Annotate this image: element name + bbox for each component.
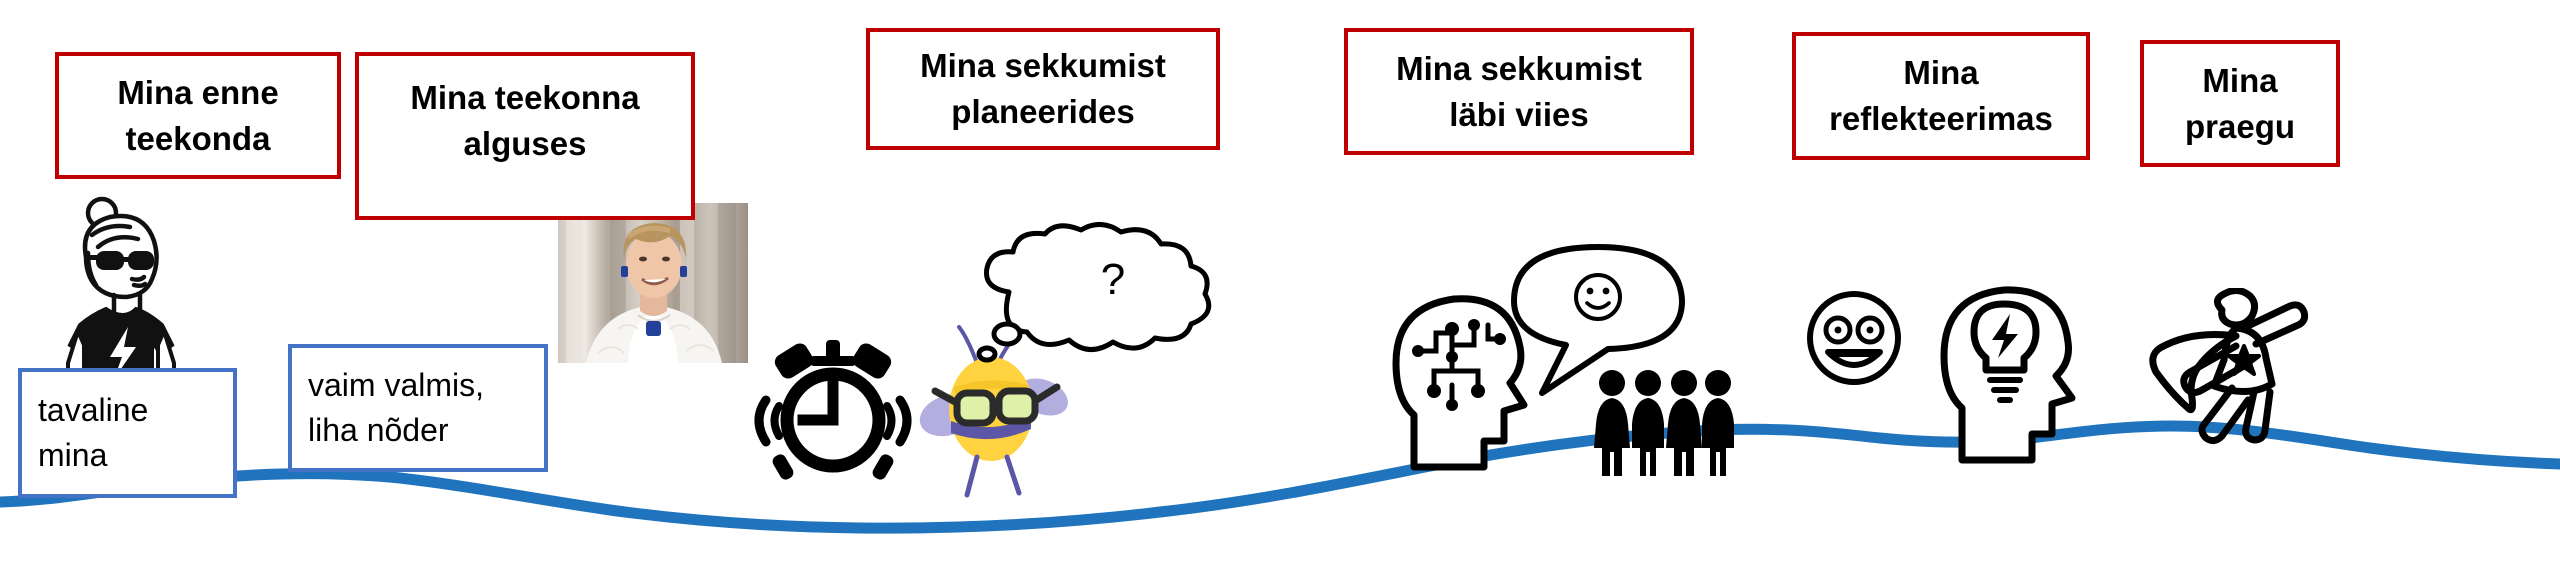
stage-box-reflekteerimas[interactable]: Mina reflekteerimas [1792,32,2090,160]
thought-bubble-text: ? [1101,255,1125,304]
slide-canvas: Mina enne teekonda Mina teekonna alguses… [0,0,2560,562]
people-group-icon [1592,368,1737,478]
stage-box-enne-teekonda[interactable]: Mina enne teekonda [55,52,341,179]
stage-box-label: Mina enne teekonda [107,70,288,161]
thought-bubble-icon: ? [965,222,1230,372]
stage-box-label: Mina sekkumist planeerides [910,43,1176,134]
note-box-tavaline-mina[interactable]: tavaline mina [18,368,237,498]
stage-box-label: Mina praegu [2175,58,2305,149]
woman-portrait-photo [558,203,748,363]
cool-girl-avatar-icon [48,195,198,380]
stage-box-label: Mina sekkumist läbi viies [1386,46,1652,137]
alarm-clock-icon [748,330,918,485]
stage-box-teekonna-alguses[interactable]: Mina teekonna alguses [355,52,695,220]
note-box-label: tavaline mina [22,388,164,479]
lightbulb-head-icon [1936,276,2086,466]
stage-box-sekkumist-labi-viies[interactable]: Mina sekkumist läbi viies [1344,28,1694,155]
note-box-vaim-valmis[interactable]: vaim valmis, liha nõder [288,344,548,472]
smiley-face-icon [1804,288,1904,388]
stage-box-praegu[interactable]: Mina praegu [2140,40,2340,167]
note-box-label: vaim valmis, liha nõder [292,363,500,454]
flying-superhero-icon [2144,288,2354,448]
stage-box-label: Mina teekonna alguses [400,75,649,166]
stage-box-label: Mina reflekteerimas [1819,50,2063,141]
stage-box-sekkumist-planeerides[interactable]: Mina sekkumist planeerides [866,28,1220,150]
